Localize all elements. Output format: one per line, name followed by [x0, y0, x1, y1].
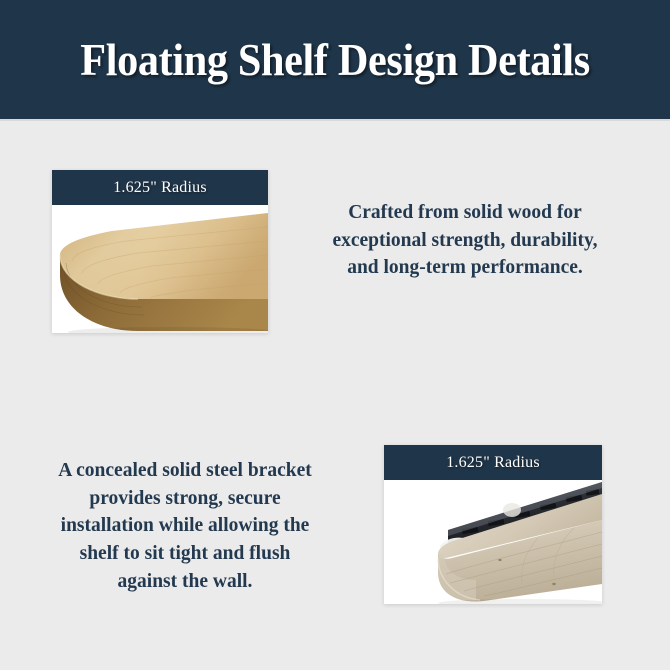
- bracket-detail-card: 1.625" Radius: [384, 445, 602, 604]
- radius-label-bottom: 1.625" Radius: [384, 445, 602, 480]
- header-banner: Floating Shelf Design Details: [0, 0, 670, 119]
- radius-detail-copy: Crafted from solid wood for exceptional …: [322, 199, 608, 282]
- maple-shelf-bracket-photo: [384, 480, 602, 604]
- oak-shelf-illustration: [52, 205, 268, 333]
- oak-shelf-photo: [52, 205, 268, 333]
- maple-shelf-bracket-illustration: [384, 480, 602, 604]
- bracket-detail-copy: A concealed solid steel bracket provides…: [48, 457, 322, 595]
- header-divider: [0, 119, 670, 121]
- page-title: Floating Shelf Design Details: [80, 34, 590, 86]
- radius-label-top: 1.625" Radius: [52, 170, 268, 205]
- radius-detail-card: 1.625" Radius: [52, 170, 268, 333]
